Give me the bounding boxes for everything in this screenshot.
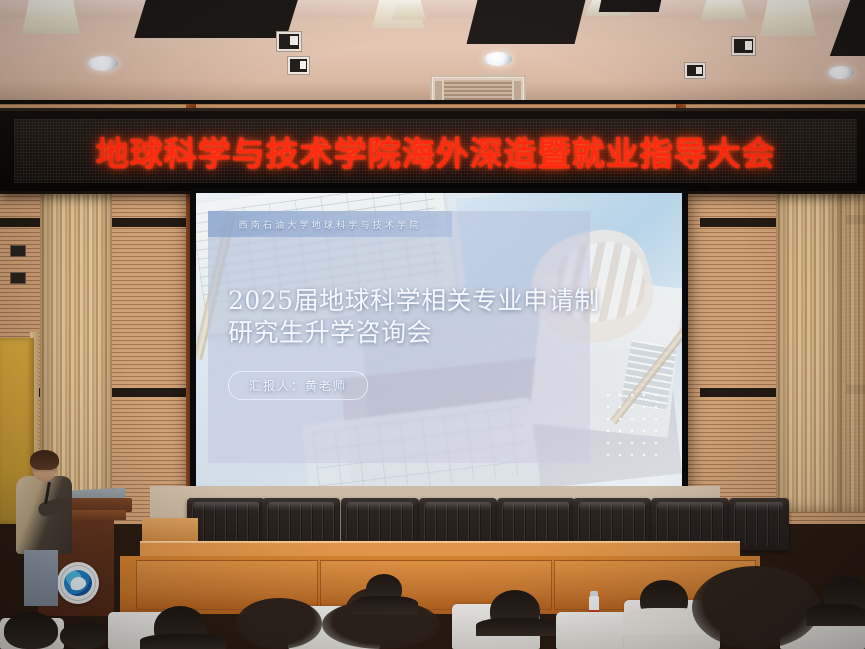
ceiling-spotlight bbox=[684, 62, 706, 79]
slide-title-line-1: 2025届地球科学相关专业申请制 bbox=[228, 285, 588, 317]
led-banner: 地球科学与技术学院海外深造暨就业指导大会 bbox=[0, 108, 865, 194]
slide-header-text: 西南石油大学地球科学与技术学院 bbox=[238, 218, 421, 231]
led-banner-screen: 地球科学与技术学院海外深造暨就业指导大会 bbox=[14, 119, 857, 183]
ceiling-dark-panel bbox=[599, 0, 662, 12]
ceiling-dark-panel bbox=[134, 0, 298, 38]
ceiling bbox=[0, 0, 865, 104]
ceiling-spotlight bbox=[287, 56, 310, 75]
ceiling-light-cone bbox=[760, 0, 816, 36]
wall-dark-band bbox=[700, 388, 776, 397]
ceiling-downlight bbox=[88, 56, 118, 71]
led-banner-text: 地球科学与技术学院海外深造暨就业指导大会 bbox=[96, 127, 776, 175]
audience-head bbox=[236, 598, 322, 649]
slide-presenter-text: 汇报人：黄老师 bbox=[249, 377, 347, 394]
speaker-legs bbox=[24, 550, 58, 606]
wall-dark-band bbox=[112, 218, 196, 227]
ceiling-downlight bbox=[828, 66, 854, 79]
projection-screen: 西南石油大学地球科学与技术学院 2025届地球科学相关专业申请制 研究生升学咨询… bbox=[196, 193, 682, 487]
audience-head bbox=[60, 622, 108, 649]
slide-presenter-pill: 汇报人：黄老师 bbox=[228, 371, 368, 400]
ceiling-light-cone bbox=[700, 0, 748, 20]
audience-shoulders bbox=[476, 618, 556, 636]
audience-head bbox=[4, 612, 58, 649]
ceiling-light-cone bbox=[22, 0, 80, 34]
wall-plate bbox=[10, 245, 26, 257]
ceiling-downlight bbox=[484, 52, 512, 66]
audience-shoulders bbox=[806, 604, 865, 626]
ceiling-light-cone bbox=[392, 0, 426, 20]
ceiling-spotlight bbox=[731, 36, 756, 56]
slide-header-bar: 西南石油大学地球科学与技术学院 bbox=[208, 211, 452, 237]
audience-shoulders bbox=[140, 634, 226, 649]
speaker-presenter bbox=[16, 452, 74, 600]
conference-hall-photo: 地球科学与技术学院海外深造暨就业指导大会 bbox=[0, 0, 865, 649]
speaker-hair bbox=[30, 450, 59, 470]
audience-head bbox=[692, 566, 820, 649]
wall-dark-band bbox=[0, 218, 40, 227]
ceiling-spotlight bbox=[276, 31, 302, 52]
audience-chair[interactable] bbox=[556, 612, 630, 649]
slide-title-line-2: 研究生升学咨询会 bbox=[228, 317, 588, 349]
slide-dot-grid-decoration bbox=[602, 389, 660, 461]
wall-dark-band bbox=[700, 218, 776, 227]
wall-dark-band bbox=[112, 388, 196, 397]
wall-plate bbox=[10, 272, 26, 284]
audience-shoulders bbox=[352, 596, 418, 614]
projection-screen-frame: 西南石油大学地球科学与技术学院 2025届地球科学相关专业申请制 研究生升学咨询… bbox=[190, 188, 688, 493]
ceiling-dark-panel bbox=[467, 0, 586, 44]
slide-title: 2025届地球科学相关专业申请制 研究生升学咨询会 bbox=[228, 285, 588, 349]
